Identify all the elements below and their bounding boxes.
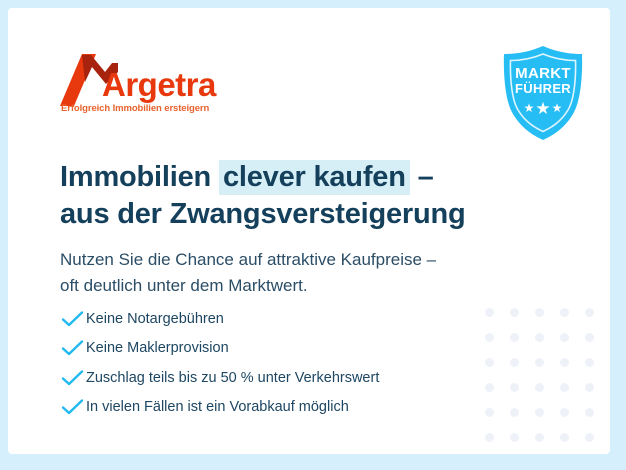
- decorative-dot: [585, 333, 594, 342]
- headline-highlight: clever kaufen: [219, 160, 410, 195]
- check-icon: [60, 369, 86, 387]
- decorative-dot: [560, 383, 569, 392]
- decorative-dot: [535, 308, 544, 317]
- check-icon: [60, 310, 86, 328]
- list-item-label: Keine Notargebühren: [86, 312, 224, 327]
- list-item: In vielen Fällen ist ein Vorabkauf mögli…: [60, 393, 530, 423]
- decorative-dot: [560, 308, 569, 317]
- list-item: Zuschlag teils bis zu 50 % unter Verkehr…: [60, 363, 530, 393]
- list-item-label: Keine Maklerprovision: [86, 341, 229, 356]
- decorative-dot: [535, 433, 544, 442]
- decorative-dot: [585, 433, 594, 442]
- decorative-dot: [535, 358, 544, 367]
- headline-part-before: Immobilien: [60, 161, 219, 193]
- decorative-dot: [585, 408, 594, 417]
- decorative-dot: [535, 383, 544, 392]
- decorative-dot: [560, 333, 569, 342]
- decorative-dot: [585, 358, 594, 367]
- decorative-dot: [485, 433, 494, 442]
- list-item-label: Zuschlag teils bis zu 50 % unter Verkehr…: [86, 371, 379, 386]
- subheading-line-2: oft deutlich unter dem Marktwert.: [60, 276, 308, 295]
- subheading: Nutzen Sie die Chance auf attraktive Kau…: [60, 247, 550, 300]
- shield-badge-icon: [497, 44, 589, 142]
- brand-logo[interactable]: Argetra Erfolgreich Immobilien ersteiger…: [60, 52, 250, 118]
- decorative-dot: [585, 383, 594, 392]
- decorative-dot: [560, 408, 569, 417]
- decorative-dot: [510, 433, 519, 442]
- headline: Immobilien clever kaufen – aus der Zwang…: [60, 159, 530, 232]
- decorative-dot: [535, 408, 544, 417]
- promo-card: Argetra Erfolgreich Immobilien ersteiger…: [8, 8, 610, 454]
- list-item-label: In vielen Fällen ist ein Vorabkauf mögli…: [86, 400, 349, 415]
- decorative-dot: [585, 308, 594, 317]
- list-item: Keine Notargebühren: [60, 304, 530, 334]
- headline-part-after: –: [410, 161, 434, 193]
- check-icon: [60, 398, 86, 416]
- logo-wordmark: Argetra: [102, 68, 216, 101]
- decorative-dot: [560, 358, 569, 367]
- market-leader-badge: MARKT FÜHRER ★ ★ ★: [497, 44, 589, 142]
- decorative-dot: [535, 333, 544, 342]
- check-icon: [60, 339, 86, 357]
- logo-tagline: Erfolgreich Immobilien ersteigern: [61, 103, 209, 114]
- headline-line-2: aus der Zwangsversteigerung: [60, 198, 466, 230]
- benefit-list: Keine Notargebühren Keine Maklerprovisio…: [60, 304, 530, 422]
- decorative-dot: [560, 433, 569, 442]
- list-item: Keine Maklerprovision: [60, 334, 530, 364]
- subheading-line-1: Nutzen Sie die Chance auf attraktive Kau…: [60, 250, 436, 269]
